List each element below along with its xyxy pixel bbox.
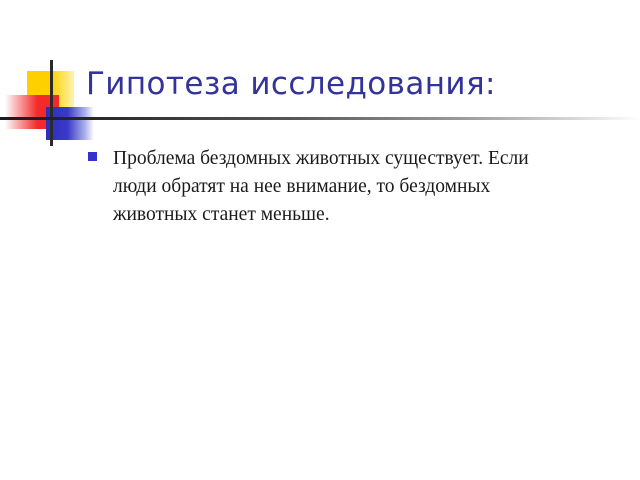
bullet-item-text: Проблема бездомных животных существует. … (113, 145, 558, 229)
presentation-slide: Гипотеза исследования: Проблема бездомны… (0, 0, 640, 480)
decorative-vertical-rule (50, 60, 53, 146)
bullet-square-icon (88, 152, 97, 161)
slide-title: Гипотеза исследования: (86, 64, 496, 104)
decorative-blue-square (46, 107, 94, 140)
decorative-horizontal-rule (0, 117, 640, 120)
list-item: Проблема бездомных животных существует. … (88, 145, 558, 229)
slide-body: Проблема бездомных животных существует. … (88, 145, 558, 229)
